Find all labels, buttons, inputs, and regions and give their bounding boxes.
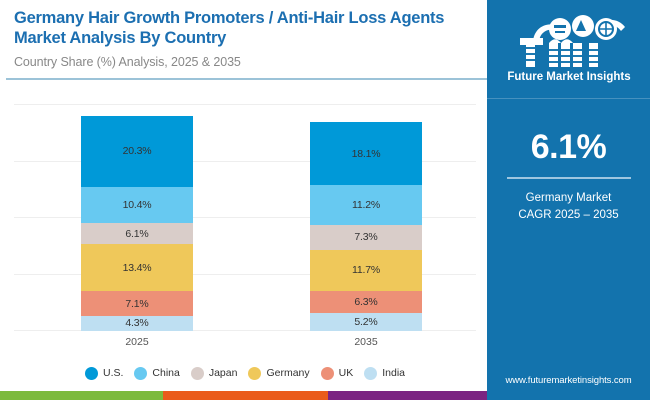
legend-label: Japan [209,367,238,379]
logo-tagline-text: Future Market Insights [507,71,630,83]
cagr-divider [507,177,631,179]
legend-label: UK [339,367,354,379]
brand-panel: Future Market Insights 6.1% Germany Mark… [487,0,650,400]
bar-segment-label: 13.4% [123,262,152,274]
legend-label: India [382,367,405,379]
fmi-logo-icon: Future Market Insights [503,13,635,83]
bar-segment[interactable]: 5.2% [310,313,422,331]
chart-plot-area: 4.3%7.1%13.4%6.1%10.4%20.3%5.2%6.3%11.7%… [14,104,476,331]
chart-header: Germany Hair Growth Promoters / Anti-Hai… [14,8,476,69]
page-subtitle: Country Share (%) Analysis, 2025 & 2035 [14,55,476,69]
legend-swatch-icon [191,367,204,380]
bar-segment-label: 10.4% [123,199,152,211]
website-url[interactable]: www.futuremarketinsights.com [487,375,650,386]
bar-segment-label: 20.3% [123,145,152,157]
legend-label: U.S. [103,367,123,379]
legend-item-china[interactable]: China [134,367,179,380]
bar-segment-label: 7.3% [354,231,377,243]
cagr-caption-line1: Germany Market [487,190,650,207]
strip-orange [163,391,328,400]
bar-segment[interactable]: 18.1% [310,122,422,185]
bar-segment-label: 7.1% [125,298,148,310]
x-axis-tick-2035: 2035 [310,336,422,348]
legend-item-uk[interactable]: UK [321,367,354,380]
bar-segment[interactable]: 11.7% [310,250,422,291]
legend-swatch-icon [321,367,334,380]
bar-segment[interactable]: 4.3% [81,316,193,331]
legend-swatch-icon [134,367,147,380]
legend-swatch-icon [364,367,377,380]
bar-segment[interactable]: 7.3% [310,225,422,250]
bar-segment[interactable]: 11.2% [310,185,422,224]
legend-item-us[interactable]: U.S. [85,367,123,380]
bottom-color-strip [0,391,487,400]
cagr-caption-line2: CAGR 2025 – 2035 [487,207,650,224]
bar-segment-label: 4.3% [125,317,148,329]
bar-segment-label: 18.1% [352,148,381,160]
chart-panel: Germany Hair Growth Promoters / Anti-Hai… [0,0,487,400]
legend-label: China [152,367,179,379]
legend-label: Germany [266,367,309,379]
stacked-bar[interactable]: 4.3%7.1%13.4%6.1%10.4%20.3% [81,116,193,331]
legend-item-germany[interactable]: Germany [248,367,309,380]
bar-segment[interactable]: 10.4% [81,187,193,223]
logo-container: Future Market Insights [487,6,650,90]
bar-segment-label: 11.7% [352,264,380,276]
bar-segment[interactable]: 6.1% [81,223,193,244]
legend-item-japan[interactable]: Japan [191,367,238,380]
chart-legend: U.S.ChinaJapanGermanyUKIndia [14,362,476,384]
bar-segment-label: 6.1% [125,228,148,240]
cagr-value: 6.1% [487,130,650,164]
bar-segment[interactable]: 13.4% [81,244,193,291]
bar-segment[interactable]: 20.3% [81,116,193,187]
header-divider [6,78,487,80]
cagr-caption: Germany Market CAGR 2025 – 2035 [487,190,650,223]
legend-swatch-icon [85,367,98,380]
bar-segment-label: 11.2% [352,199,380,211]
gridline [14,104,476,105]
bar-segment-label: 6.3% [354,296,377,308]
strip-green [0,391,163,400]
bar-segment-label: 5.2% [354,316,377,328]
legend-swatch-icon [248,367,261,380]
strip-purple [328,391,487,400]
page-title: Germany Hair Growth Promoters / Anti-Hai… [14,8,476,48]
cagr-block: 6.1% Germany Market CAGR 2025 – 2035 [487,130,650,223]
x-axis-tick-2025: 2025 [81,336,193,348]
bar-segment[interactable]: 6.3% [310,291,422,313]
bar-segment[interactable]: 7.1% [81,291,193,316]
infographic-root: Germany Hair Growth Promoters / Anti-Hai… [0,0,650,400]
legend-item-india[interactable]: India [364,367,405,380]
stacked-bar[interactable]: 5.2%6.3%11.7%7.3%11.2%18.1% [310,122,422,331]
panel-divider [487,98,650,99]
